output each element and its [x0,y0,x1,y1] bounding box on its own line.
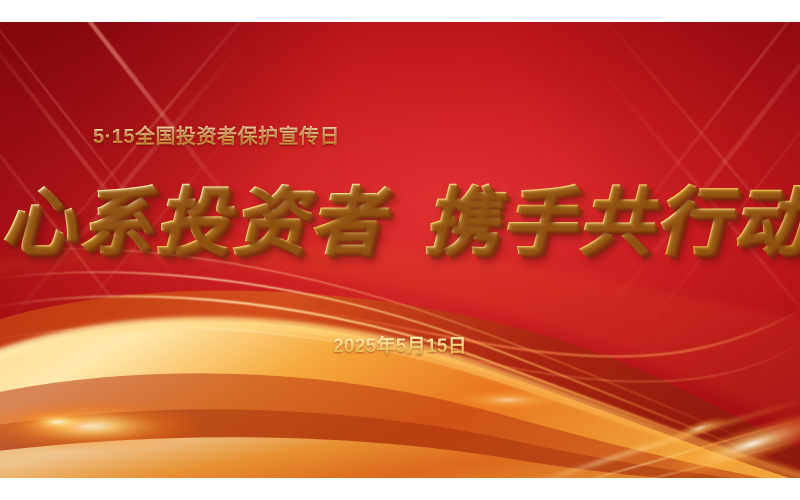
poster-title-part-2: 携手共行动 [423,179,800,265]
poster-main-title: 心系投资者携手共行动 [0,174,800,270]
poster-canvas: 5·15全国投资者保护宣传日 心系投资者携手共行动 2025年5月15日 [0,22,800,478]
poster-content: 5·15全国投资者保护宣传日 心系投资者携手共行动 2025年5月15日 [0,22,800,478]
poster-date: 2025年5月15日 [0,335,800,359]
poster-frame: 5·15全国投资者保护宣传日 心系投资者携手共行动 2025年5月15日 [0,0,800,500]
poster-title-part-1: 心系投资者 [0,179,385,265]
poster-subtitle: 5·15全国投资者保护宣传日 [93,125,340,149]
